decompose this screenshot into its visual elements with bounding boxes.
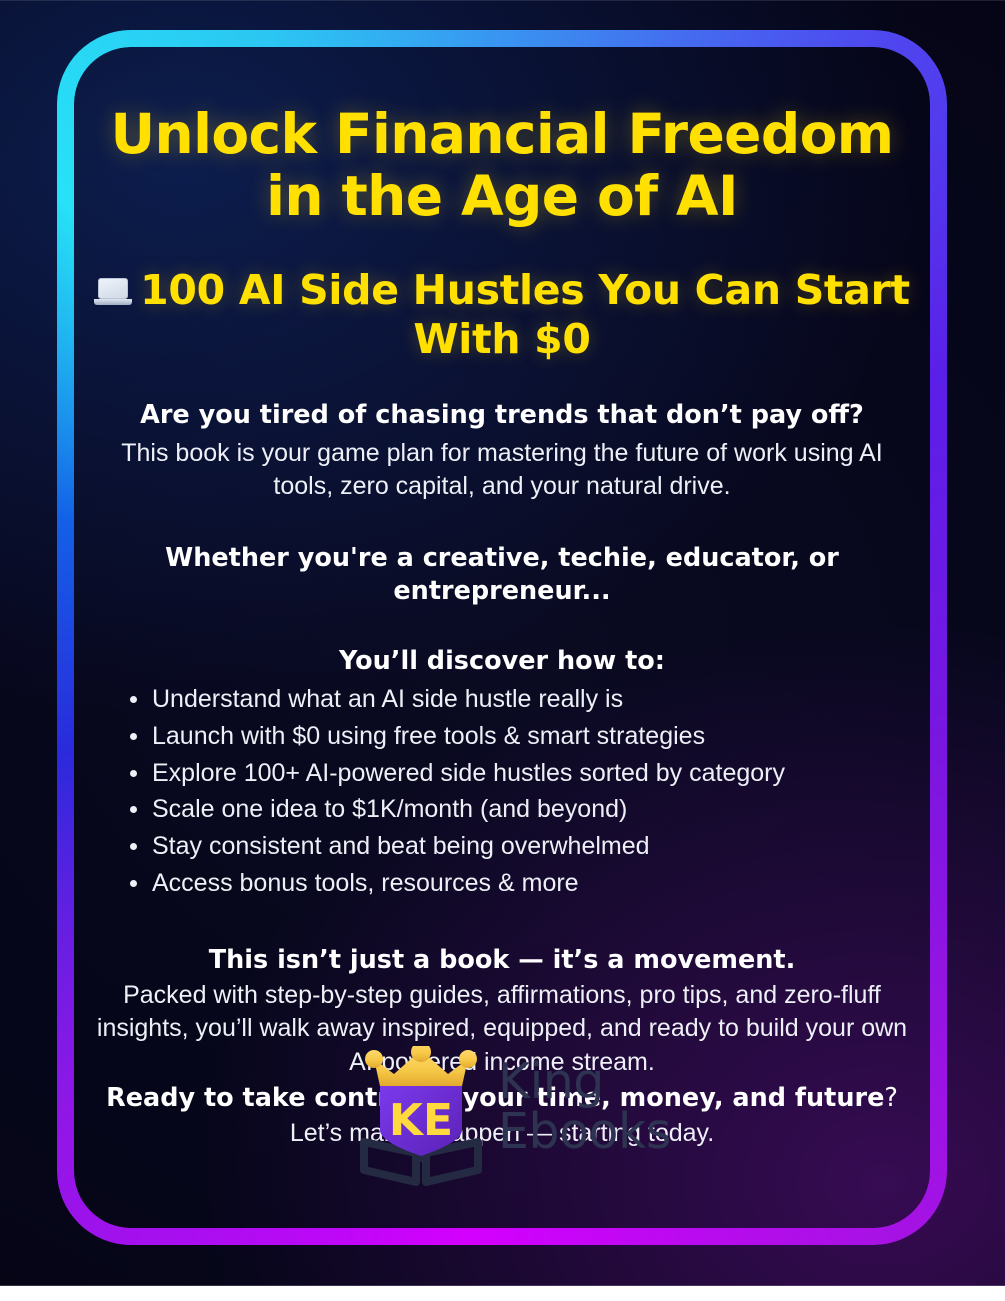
cta-headline-punctuation: ? [884, 1083, 898, 1113]
laptop-base [94, 299, 132, 305]
list-item: Launch with $0 using free tools & smart … [122, 721, 916, 758]
audience-line: Whether you're a creative, techie, educa… [88, 542, 916, 608]
crown-ball-right [459, 1050, 477, 1068]
king-ebooks-logo: KE King Ebooks [360, 1046, 650, 1191]
poster-subtitle: 100 AI Side Hustles You Can Start With $… [88, 266, 916, 363]
page-title: Unlock Financial Freedom in the Age of A… [88, 104, 916, 227]
list-item: Understand what an AI side hustle really… [122, 684, 916, 721]
list-item: Scale one idea to $1K/month (and beyond) [122, 794, 916, 831]
laptop-icon [94, 278, 132, 307]
crown-shield-book-icon: KE [360, 1046, 482, 1188]
discover-label: You’ll discover how to: [88, 646, 916, 676]
poster-canvas: Unlock Financial Freedom in the Age of A… [0, 0, 1005, 1286]
logo-word-ebooks: Ebooks [498, 1108, 671, 1156]
poster-page: Unlock Financial Freedom in the Age of A… [0, 0, 1005, 1301]
list-item: Access bonus tools, resources & more [122, 868, 916, 905]
logo-monogram: KE [389, 1095, 453, 1146]
logo-word-king: King [498, 1053, 604, 1110]
crown-ball-left [365, 1050, 383, 1068]
list-item: Explore 100+ AI-powered side hustles sor… [122, 758, 916, 795]
lead-paragraph: This book is your game plan for masterin… [88, 437, 916, 504]
poster-subtitle-text: 100 AI Side Hustles You Can Start With $… [140, 266, 910, 362]
laptop-screen [98, 278, 128, 299]
logo-wordmark: King Ebooks [498, 1058, 671, 1156]
lead-question: Are you tired of chasing trends that don… [88, 399, 916, 432]
poster-content: Unlock Financial Freedom in the Age of A… [88, 104, 916, 1150]
closing-headline: This isn’t just a book — it’s a movement… [88, 945, 916, 975]
list-item: Stay consistent and beat being overwhelm… [122, 831, 916, 868]
benefits-list: Understand what an AI side hustle really… [88, 684, 916, 905]
